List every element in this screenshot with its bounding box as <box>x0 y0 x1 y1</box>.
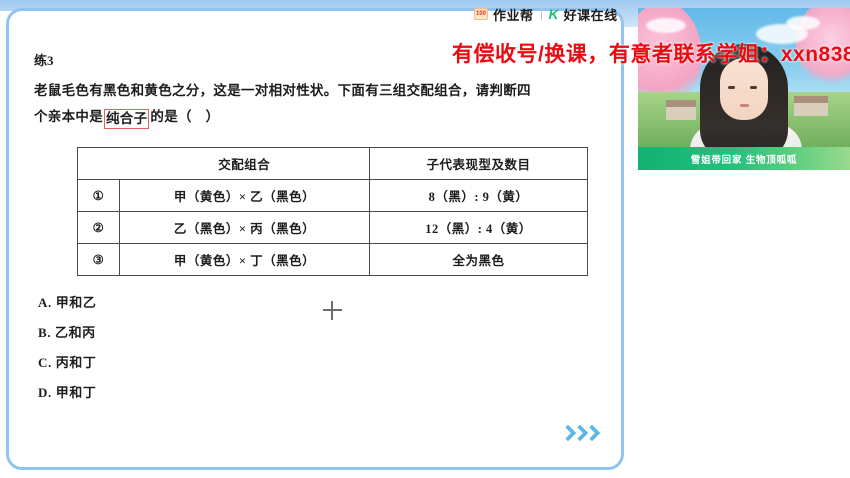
chevron-right-icon <box>573 425 584 442</box>
hut-icon <box>666 100 696 120</box>
slide-card-inner: 练3 老鼠毛色有黑色和黄色之分，这是一对相对性状。下面有三组交配组合，请判断四 … <box>12 14 618 464</box>
brand-bar: 100 作业帮 K 好课在线 <box>474 3 618 25</box>
row-cross: 乙（黑色）× 丙（黑色） <box>120 212 370 244</box>
brand-subname: 好课在线 <box>564 5 618 24</box>
table-header-cross: 交配组合 <box>120 148 370 180</box>
table-row: ② 乙（黑色）× 丙（黑色） 12（黑）: 4（黄） <box>78 212 588 244</box>
option-c[interactable]: C. 丙和丁 <box>38 348 97 378</box>
option-a[interactable]: A. 甲和乙 <box>38 288 97 318</box>
crosshair-cursor-icon <box>323 301 342 320</box>
option-d[interactable]: D. 甲和丁 <box>38 378 97 408</box>
question-line-2-prefix: 个亲本中是 <box>34 109 103 124</box>
row-index: ③ <box>78 244 120 276</box>
chevron-right-icon <box>561 425 572 442</box>
question-line-2-suffix: 的是（ ） <box>150 109 219 124</box>
cloud-icon <box>786 16 820 30</box>
teacher-webcam-feed[interactable]: 雪姐带回家 生物顶呱呱 <box>638 8 850 170</box>
teacher-eye-left <box>728 86 735 89</box>
question-line-1: 老鼠毛色有黑色和黄色之分，这是一对相对性状。下面有三组交配组合，请判断四 <box>34 83 531 98</box>
webcam-caption-text: 雪姐带回家 生物顶呱呱 <box>691 152 797 166</box>
row-index: ① <box>78 180 120 212</box>
row-result: 12（黑）: 4（黄） <box>370 212 588 244</box>
slide-card: 练3 老鼠毛色有黑色和黄色之分，这是一对相对性状。下面有三组交配组合，请判断四 … <box>6 8 624 470</box>
row-cross: 甲（黄色）× 丁（黑色） <box>120 244 370 276</box>
next-slide-button[interactable] <box>561 425 596 442</box>
teacher-eye-right <box>750 86 757 89</box>
kaoke-k-logo-icon: K <box>549 7 559 21</box>
row-result: 8（黑）: 9（黄） <box>370 180 588 212</box>
table-header-result: 子代表现型及数目 <box>370 148 588 180</box>
row-result: 全为黑色 <box>370 244 588 276</box>
brand-divider <box>541 8 542 20</box>
hut-icon <box>794 96 828 116</box>
table-header-row: 交配组合 子代表现型及数目 <box>78 148 588 180</box>
cross-combination-table: 交配组合 子代表现型及数目 ① 甲（黄色）× 乙（黑色） 8（黑）: 9（黄） … <box>77 147 588 276</box>
practice-label: 练3 <box>34 50 54 69</box>
webcam-caption-bar: 雪姐带回家 生物顶呱呱 <box>638 147 850 170</box>
cloud-icon <box>646 18 686 33</box>
promo-banner-text: 有偿收号/换课，有意者联系学姐：xxn8383 <box>452 38 850 68</box>
row-index: ② <box>78 212 120 244</box>
highlighted-term: 纯合子 <box>104 109 149 129</box>
teacher-mouth <box>740 104 749 107</box>
row-cross: 甲（黄色）× 乙（黑色） <box>120 180 370 212</box>
table-row: ① 甲（黄色）× 乙（黑色） 8（黑）: 9（黄） <box>78 180 588 212</box>
question-text: 老鼠毛色有黑色和黄色之分，这是一对相对性状。下面有三组交配组合，请判断四 个亲本… <box>34 78 594 130</box>
table-row: ③ 甲（黄色）× 丁（黑色） 全为黑色 <box>78 244 588 276</box>
table-header-index <box>78 148 120 180</box>
brand-name: 作业帮 <box>493 5 534 24</box>
answer-options: A. 甲和乙 B. 乙和丙 C. 丙和丁 D. 甲和丁 <box>38 288 97 408</box>
option-b[interactable]: B. 乙和丙 <box>38 318 97 348</box>
chevron-right-icon <box>585 425 596 442</box>
zuoyebang-logo-icon: 100 <box>474 8 488 20</box>
